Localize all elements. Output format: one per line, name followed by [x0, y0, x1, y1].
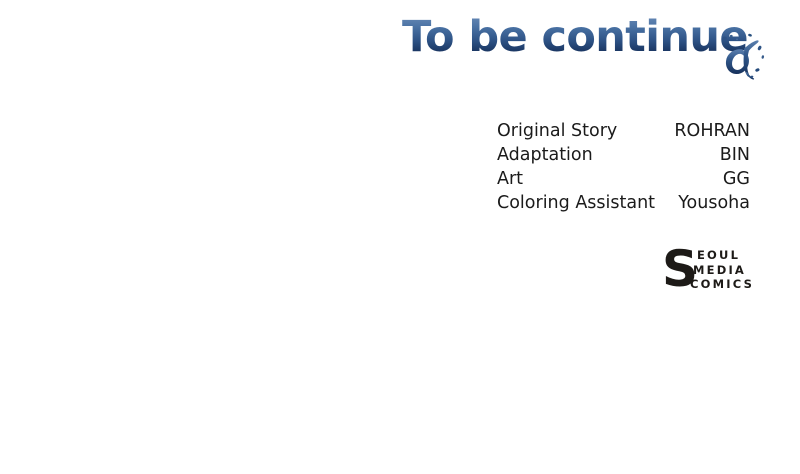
credit-name-value: Yousoha	[670, 191, 750, 215]
stylized-d-letter	[716, 26, 776, 80]
credit-role-label: Art	[497, 167, 523, 191]
credit-role-label: Coloring Assistant	[497, 191, 655, 215]
credit-role-label: Adaptation	[497, 143, 593, 167]
comic-end-page: To be continue	[0, 0, 800, 474]
credit-name-value: GG	[715, 167, 750, 191]
credit-name-value: BIN	[712, 143, 750, 167]
logo-wordmark: EOUL MEDIA COMICS	[690, 248, 756, 292]
logo-line-eoul: EOUL	[697, 248, 756, 263]
to-be-continued-text: To be continue	[402, 14, 748, 60]
credit-row: Art GG	[497, 167, 750, 191]
credit-row: Adaptation BIN	[497, 143, 750, 167]
logo-line-media: MEDIA	[693, 263, 756, 278]
credit-row: Coloring Assistant Yousoha	[497, 191, 750, 215]
stylized-d-icon	[716, 26, 776, 80]
to-be-continued-title: To be continue	[398, 8, 778, 78]
logo-line-comics: COMICS	[690, 277, 756, 292]
publisher-logo: S EOUL MEDIA COMICS	[662, 245, 754, 295]
credit-row: Original Story ROHRAN	[497, 119, 750, 143]
credit-role-label: Original Story	[497, 119, 617, 143]
credits-block: Original Story ROHRAN Adaptation BIN Art…	[497, 119, 750, 215]
credit-name-value: ROHRAN	[666, 119, 750, 143]
